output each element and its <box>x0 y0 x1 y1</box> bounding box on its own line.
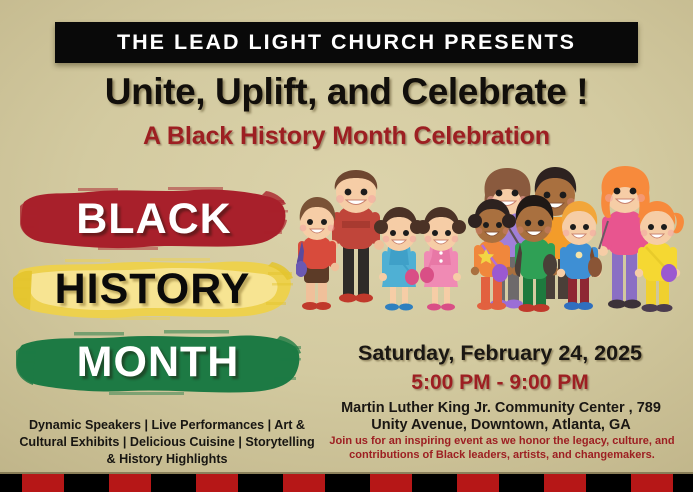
page-title: Unite, Uplift, and Celebrate ! <box>0 71 693 113</box>
presenter-banner: THE LEAD LIGHT CHURCH PRESENTS <box>55 22 638 63</box>
features-line2: Cultural Exhibits | Delicious Cuisine | … <box>12 434 322 451</box>
poster-canvas: THE LEAD LIGHT CHURCH PRESENTS Unite, Up… <box>0 0 693 492</box>
event-blurb-line1: Join us for an inspiring event as we hon… <box>322 434 682 448</box>
person-girl-pink-dress <box>416 207 466 311</box>
features-line1: Dynamic Speakers | Live Performances | A… <box>12 417 322 434</box>
banner-black-label: BLACK <box>18 195 290 244</box>
event-blurb-line2: contributions of Black leaders, artists,… <box>322 448 682 462</box>
bottom-border-band <box>0 474 693 492</box>
page-subtitle: A Black History Month Celebration <box>0 122 693 151</box>
person-girl-yellow-outfit <box>635 201 684 312</box>
banner-history: HISTORY <box>10 256 295 322</box>
features-list: Dynamic Speakers | Live Performances | A… <box>12 417 322 468</box>
person-boy-red-shirt <box>328 170 384 303</box>
event-venue-line1: Martin Luther King Jr. Community Center … <box>318 400 684 417</box>
group-of-children-illustration-icon <box>296 165 688 337</box>
event-blurb: Join us for an inspiring event as we hon… <box>322 434 682 462</box>
features-line3: & History Highlights <box>12 451 322 468</box>
bottom-border-dashes <box>0 474 693 492</box>
person-boy-red-small <box>296 197 339 310</box>
event-time: 5:00 PM - 9:00 PM <box>312 371 688 395</box>
presenter-text: THE LEAD LIGHT CHURCH PRESENTS <box>117 30 576 55</box>
person-girl-blue-dress <box>374 207 424 311</box>
banner-month-label: MONTH <box>14 338 302 387</box>
banner-black: BLACK <box>18 186 290 252</box>
event-venue-line2: Unity Avenue, Downtown, Atlanta, GA <box>318 417 684 434</box>
banner-history-label: HISTORY <box>10 265 295 314</box>
event-venue: Martin Luther King Jr. Community Center … <box>318 400 684 433</box>
event-date: Saturday, February 24, 2025 <box>312 341 688 366</box>
banner-month: MONTH <box>14 327 302 397</box>
